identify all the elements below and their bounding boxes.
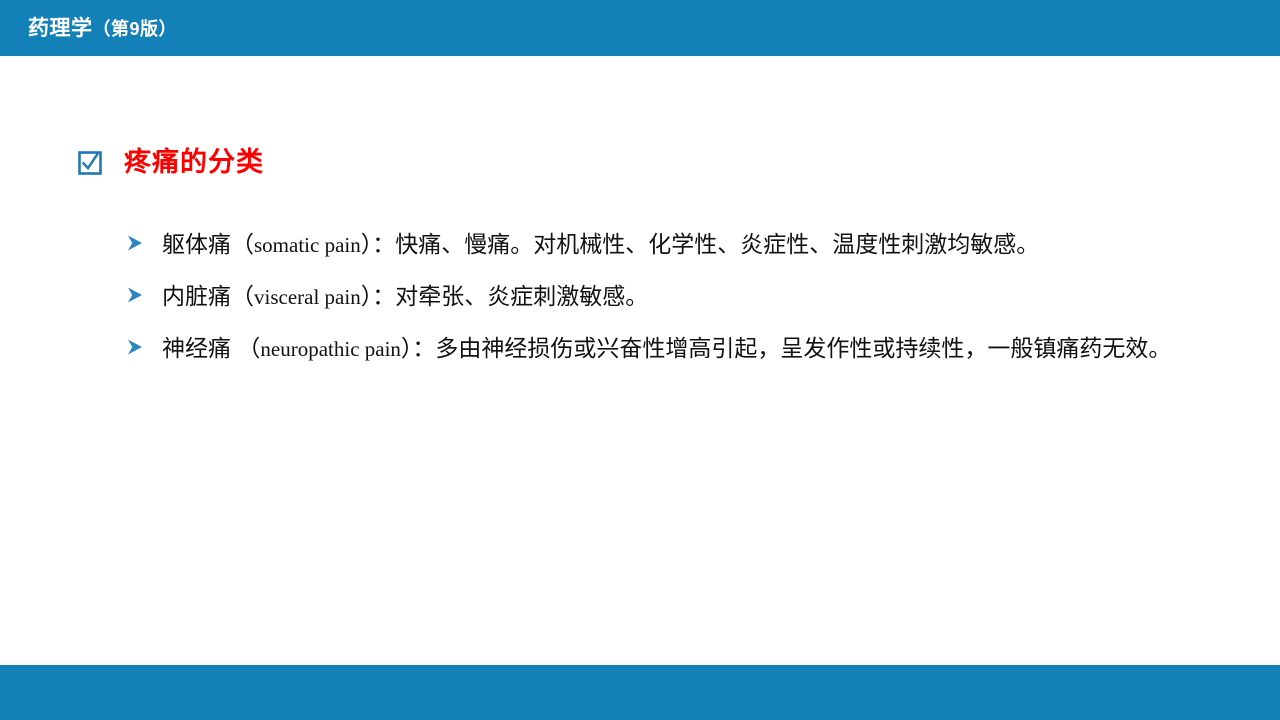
paren-open: （ bbox=[231, 231, 254, 257]
pain-description: 多由神经损伤或兴奋性增高引起，呈发作性或持续性，一般镇痛药无效。 bbox=[435, 335, 1171, 361]
list-item: 内脏痛（visceral pain）：对牵张、炎症刺激敏感。 bbox=[126, 279, 1216, 314]
pain-term-en: neuropathic pain bbox=[260, 337, 401, 361]
paren-close: ） bbox=[361, 231, 373, 257]
arrow-right-bullet-icon bbox=[126, 331, 144, 361]
pain-term: 神经痛 bbox=[162, 335, 237, 361]
list-item: 躯体痛（somatic pain）：快痛、慢痛。对机械性、化学性、炎症性、温度性… bbox=[126, 227, 1216, 262]
section-heading: 疼痛的分类 bbox=[78, 149, 264, 176]
pain-description: 对牵张、炎症刺激敏感。 bbox=[395, 283, 648, 309]
list-item-text: 躯体痛（somatic pain）：快痛、慢痛。对机械性、化学性、炎症性、温度性… bbox=[162, 227, 1039, 262]
colon: ： bbox=[372, 283, 395, 309]
course-title: 药理学（第9版） bbox=[28, 18, 177, 39]
pain-classification-list: 躯体痛（somatic pain）：快痛、慢痛。对机械性、化学性、炎症性、温度性… bbox=[126, 227, 1216, 383]
colon: ： bbox=[412, 335, 435, 361]
pain-description: 快痛、慢痛。对机械性、化学性、炎症性、温度性刺激均敏感。 bbox=[395, 231, 1039, 257]
pain-term-en: visceral pain bbox=[254, 285, 361, 309]
slide-header-bar: 药理学（第9版） bbox=[0, 0, 1280, 56]
list-item-text: 神经痛 （neuropathic pain）：多由神经损伤或兴奋性增高引起，呈发… bbox=[162, 331, 1171, 366]
pain-term-en: somatic pain bbox=[254, 233, 361, 257]
arrow-right-bullet-icon bbox=[126, 279, 144, 309]
page-title: 疼痛的分类 bbox=[124, 149, 264, 176]
list-item: 神经痛 （neuropathic pain）：多由神经损伤或兴奋性增高引起，呈发… bbox=[126, 331, 1216, 366]
paren-close: ） bbox=[361, 283, 373, 309]
pain-term: 内脏痛 bbox=[162, 283, 231, 309]
slide-footer-bar bbox=[0, 665, 1280, 720]
slide-canvas: 药理学（第9版） 疼痛的分类 躯体痛（somatic pa bbox=[0, 0, 1280, 720]
slide-content: 疼痛的分类 躯体痛（somatic pain）：快痛、慢痛。对机械性、化学性、炎… bbox=[0, 56, 1280, 665]
pain-term: 躯体痛 bbox=[162, 231, 231, 257]
checkbox-checked-icon bbox=[78, 151, 102, 175]
paren-open: （ bbox=[237, 335, 260, 361]
paren-close: ） bbox=[401, 335, 413, 361]
course-title-edition: （第9版） bbox=[93, 19, 178, 39]
list-item-text: 内脏痛（visceral pain）：对牵张、炎症刺激敏感。 bbox=[162, 279, 648, 314]
paren-open: （ bbox=[231, 283, 254, 309]
arrow-right-bullet-icon bbox=[126, 227, 144, 257]
colon: ： bbox=[372, 231, 395, 257]
course-title-main: 药理学 bbox=[28, 17, 93, 40]
